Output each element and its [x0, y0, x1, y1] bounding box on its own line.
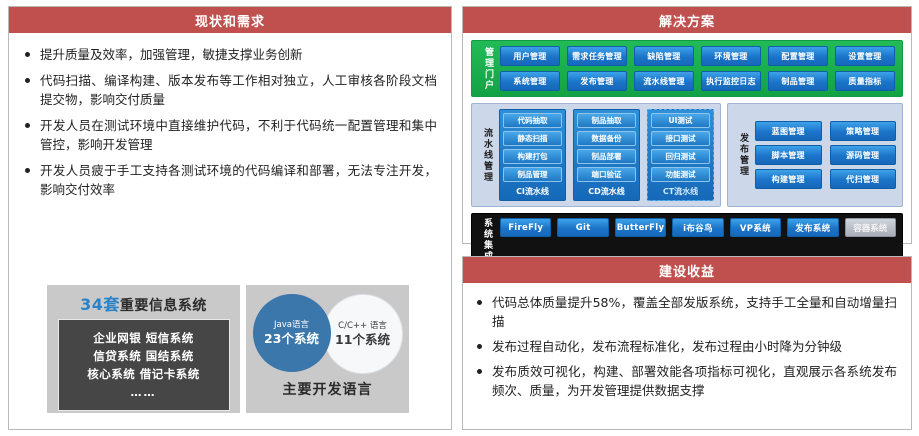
portal-button-defect-management[interactable]: 缺陷管理 [634, 46, 694, 66]
list-item: 发布过程自动化，发布流程标准化，发布过程由小时降为分钟级 [475, 337, 897, 356]
release-button-code-scan-management[interactable]: 代扫管理 [830, 169, 897, 189]
portal-button-pipeline-management[interactable]: 流水线管理 [634, 71, 694, 91]
pipeline-columns: 代码抽取 静态扫描 构建打包 制品管理 CI流水线 制品抽取 数据备份 制品部署… [499, 109, 714, 201]
systems-count: 34套 [80, 295, 120, 314]
pipeline-management-label: 流水线管理 [478, 109, 495, 201]
system-row: 企业网银 短信系统 [93, 329, 194, 347]
venn-cpp-value: 11个系统 [335, 332, 390, 347]
cd-step-port-verify[interactable]: 端口验证 [577, 167, 636, 182]
language-card-caption: 主要开发语言 [283, 379, 373, 399]
list-item: 提升质量及效率，加强管理，敏捷支撑业务创新 [23, 45, 437, 64]
integration-item-git[interactable]: Git [557, 218, 608, 237]
benefit-body: 代码总体质量提升58%，覆盖全部发版系统，支持手工全量和自动增量扫描 发布过程自… [463, 283, 911, 400]
benefit-panel: 建设收益 代码总体质量提升58%，覆盖全部发版系统，支持手工全量和自动增量扫描 … [462, 256, 912, 430]
solution-panel: 解决方案 管理门户 用户管理 需求任务管理 缺陷管理 环境管理 配置管理 设置管… [462, 6, 912, 244]
venn-circle-cpp: C/C++ 语言 11个系统 [323, 294, 403, 374]
integration-item-container-system[interactable]: 容器系统 [845, 218, 896, 237]
cd-step-artifact-extract[interactable]: 制品抽取 [577, 113, 636, 128]
ci-step-artifact-management[interactable]: 制品管理 [503, 167, 562, 182]
ct-pipeline-caption: CT流水线 [651, 185, 710, 197]
stats-strip: 34套重要信息系统 企业网银 短信系统 信贷系统 国结系统 核心系统 借记卡系统… [47, 285, 409, 413]
integration-item-release-system[interactable]: 发布系统 [787, 218, 838, 237]
ct-step-interface-test[interactable]: 接口测试 [651, 131, 710, 146]
systems-title-rest: 重要信息系统 [120, 298, 207, 314]
systems-card-title: 34套重要信息系统 [80, 291, 207, 315]
cd-step-artifact-deploy[interactable]: 制品部署 [577, 149, 636, 164]
release-management-grid: 蓝图管理 策略管理 脚本管理 源码管理 构建管理 代扫管理 [755, 109, 896, 201]
portal-button-execution-monitor-log[interactable]: 执行监控日志 [701, 71, 761, 91]
current-status-body: 提升质量及效率，加强管理，敏捷支撑业务创新 代码扫描、编译构建、版本发布等工作相… [9, 33, 451, 429]
solution-body: 管理门户 用户管理 需求任务管理 缺陷管理 环境管理 配置管理 设置管理 系统管… [463, 33, 911, 243]
ct-step-function-test[interactable]: 功能测试 [651, 167, 710, 182]
integration-item-vp-system[interactable]: VP系统 [730, 218, 781, 237]
benefit-bullet-list: 代码总体质量提升58%，覆盖全部发版系统，支持手工全量和自动增量扫描 发布过程自… [475, 293, 897, 400]
list-item: 发布质效可视化，构建、部署效能各项指标可视化，直观展示各系统发布频次、质量，为开… [475, 362, 897, 400]
portal-button-configuration-management[interactable]: 配置管理 [768, 46, 828, 66]
venn-circle-java: Java语言 23个系统 [253, 294, 331, 372]
list-item: 代码扫描、编译构建、版本发布等工作相对独立，人工审核各阶段文档提交物，影响交付质… [23, 71, 437, 109]
ci-step-build-package[interactable]: 构建打包 [503, 149, 562, 164]
release-button-source-management[interactable]: 源码管理 [830, 145, 897, 165]
management-portal-grid: 用户管理 需求任务管理 缺陷管理 环境管理 配置管理 设置管理 系统管理 发布管… [500, 46, 895, 91]
current-status-title: 现状和需求 [9, 7, 451, 33]
portal-button-artifact-management[interactable]: 制品管理 [768, 71, 828, 91]
integration-item-cuckoo[interactable]: i布谷鸟 [672, 218, 723, 237]
pipeline-management-band: 流水线管理 代码抽取 静态扫描 构建打包 制品管理 CI流水线 制品抽取 数据备… [471, 103, 721, 207]
slide-root: 现状和需求 提升质量及效率，加强管理，敏捷支撑业务创新 代码扫描、编译构建、版本… [0, 0, 919, 436]
language-card: Java语言 23个系统 C/C++ 语言 11个系统 主要开发语言 [246, 285, 409, 413]
release-management-band: 发布管理 蓝图管理 策略管理 脚本管理 源码管理 构建管理 代扫管理 [727, 103, 903, 207]
cd-pipeline-caption: CD流水线 [577, 185, 636, 197]
release-button-build-management[interactable]: 构建管理 [755, 169, 822, 189]
system-row: 信贷系统 国结系统 [93, 347, 194, 365]
systems-card: 34套重要信息系统 企业网银 短信系统 信贷系统 国结系统 核心系统 借记卡系统… [47, 285, 240, 413]
portal-button-system-management[interactable]: 系统管理 [500, 71, 560, 91]
pipeline-column-cd[interactable]: 制品抽取 数据备份 制品部署 端口验证 CD流水线 [573, 109, 640, 201]
ci-step-code-extract[interactable]: 代码抽取 [503, 113, 562, 128]
integration-item-firefly[interactable]: FireFly [500, 218, 551, 237]
release-button-blueprint-management[interactable]: 蓝图管理 [755, 121, 822, 141]
list-item: 开发人员在测试环境中直接维护代码，不利于代码统一配置管理和集中管控，影响开发管理 [23, 116, 437, 154]
current-status-bullet-list: 提升质量及效率，加强管理，敏捷支撑业务创新 代码扫描、编译构建、版本发布等工作相… [23, 45, 437, 199]
integration-item-butterfly[interactable]: ButterFly [615, 218, 666, 237]
management-portal-label: 管理门户 [479, 46, 496, 91]
solution-title: 解决方案 [463, 7, 911, 33]
ct-step-regression-test[interactable]: 回归测试 [651, 149, 710, 164]
current-status-panel: 现状和需求 提升质量及效率，加强管理，敏捷支撑业务创新 代码扫描、编译构建、版本… [8, 6, 452, 430]
systems-name-box: 企业网银 短信系统 信贷系统 国结系统 核心系统 借记卡系统 …… [58, 319, 230, 411]
ct-step-ui-test[interactable]: UI测试 [651, 113, 710, 128]
release-management-label: 发布管理 [734, 109, 751, 201]
list-item: 开发人员疲于手工支持各测试环境的代码编译和部署，无法专注开发，影响交付效率 [23, 161, 437, 199]
portal-button-user-management[interactable]: 用户管理 [500, 46, 560, 66]
pipeline-column-ci[interactable]: 代码抽取 静态扫描 构建打包 制品管理 CI流水线 [499, 109, 566, 201]
venn-diagram: Java语言 23个系统 C/C++ 语言 11个系统 [253, 294, 403, 372]
pipeline-column-ct[interactable]: UI测试 接口测试 回归测试 功能测试 CT流水线 [647, 109, 714, 201]
venn-java-value: 23个系统 [264, 331, 319, 346]
release-button-strategy-management[interactable]: 策略管理 [830, 121, 897, 141]
release-button-script-management[interactable]: 脚本管理 [755, 145, 822, 165]
management-portal-band: 管理门户 用户管理 需求任务管理 缺陷管理 环境管理 配置管理 设置管理 系统管… [471, 40, 903, 97]
venn-java-label: Java语言 [274, 320, 309, 331]
benefit-title: 建设收益 [463, 257, 911, 283]
portal-button-requirement-task-management[interactable]: 需求任务管理 [567, 46, 627, 66]
pipeline-release-row: 流水线管理 代码抽取 静态扫描 构建打包 制品管理 CI流水线 制品抽取 数据备… [471, 103, 903, 207]
portal-button-release-management[interactable]: 发布管理 [567, 71, 627, 91]
ci-pipeline-caption: CI流水线 [503, 185, 562, 197]
cd-step-data-backup[interactable]: 数据备份 [577, 131, 636, 146]
portal-button-quality-metrics[interactable]: 质量指标 [835, 71, 895, 91]
list-item: 代码总体质量提升58%，覆盖全部发版系统，支持手工全量和自动增量扫描 [475, 293, 897, 331]
ci-step-static-scan[interactable]: 静态扫描 [503, 131, 562, 146]
portal-button-settings-management[interactable]: 设置管理 [835, 46, 895, 66]
system-row: 核心系统 借记卡系统 [87, 365, 200, 383]
portal-button-environment-management[interactable]: 环境管理 [701, 46, 761, 66]
venn-cpp-label: C/C++ 语言 [338, 321, 387, 332]
system-row-ellipsis: …… [131, 384, 157, 402]
